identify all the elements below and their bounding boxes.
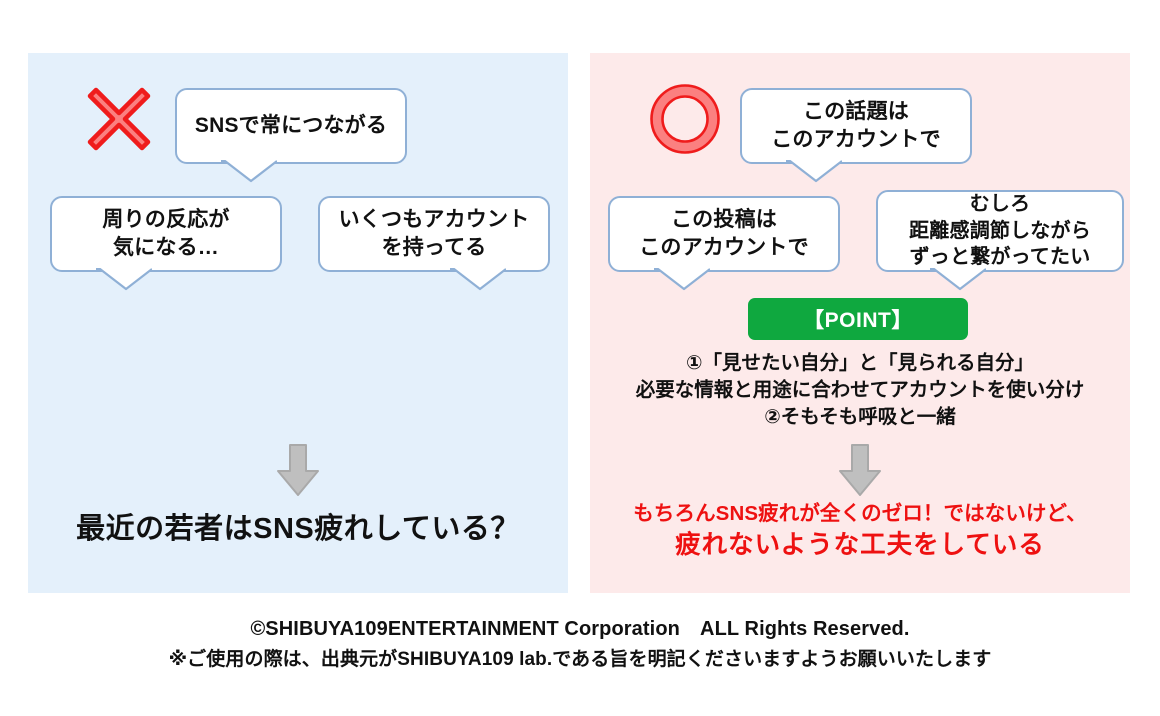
right-conclusion-line2: 疲れないような工夫をしている	[590, 528, 1130, 562]
point-body-text: ①「見せたい自分」と「見られる自分」 必要な情報と用途に合わせてアカウントを使い…	[596, 350, 1124, 431]
left-conclusion-text: 最近の若者はSNS疲れしている？	[28, 505, 568, 547]
point-badge: 【POINT】	[748, 298, 968, 340]
bubble-label: この投稿は このアカウントで	[639, 206, 809, 261]
infographic-canvas: SNSで常につながる 周りの反応が 気になる… いくつもアカウント を持ってる …	[0, 0, 1160, 716]
bubble-label: むしろ 距離感調節しながら ずっと繋がってたい	[909, 191, 1091, 270]
bubble-label: いくつもアカウント を持ってる	[339, 206, 530, 261]
o-mark-icon	[648, 82, 722, 156]
right-conclusion-line1: もちろんSNS疲れが全くのゼロ！ではないけど、	[590, 500, 1130, 528]
bubble-label: SNSで常につながる	[195, 112, 387, 140]
bubble-this-post-account: この投稿は このアカウントで	[608, 196, 840, 272]
bubble-sns-always-connected: SNSで常につながる	[175, 88, 407, 164]
down-arrow-icon-right	[837, 443, 883, 497]
bubble-many-accounts: いくつもアカウント を持ってる	[318, 196, 550, 272]
down-arrow-icon-left	[275, 443, 321, 497]
bubble-care-about-reactions: 周りの反応が 気になる…	[50, 196, 282, 272]
footer-copyright: ©SHIBUYA109ENTERTAINMENT Corporation ALL…	[0, 614, 1160, 645]
bubble-label: 周りの反応が 気になる…	[102, 206, 229, 261]
footer-note: ※ご使用の際は、出典元がSHIBUYA109 lab.である旨を明記くださいます…	[0, 645, 1160, 674]
right-conclusion: もちろんSNS疲れが全くのゼロ！ではないけど、 疲れないような工夫をしている	[590, 500, 1130, 562]
bubble-label: この話題は このアカウントで	[771, 98, 941, 153]
bubble-this-topic-account: この話題は このアカウントで	[740, 88, 972, 164]
bubble-adjust-distance: むしろ 距離感調節しながら ずっと繋がってたい	[876, 190, 1124, 272]
footer: ©SHIBUYA109ENTERTAINMENT Corporation ALL…	[0, 614, 1160, 674]
x-mark-icon	[82, 82, 156, 156]
